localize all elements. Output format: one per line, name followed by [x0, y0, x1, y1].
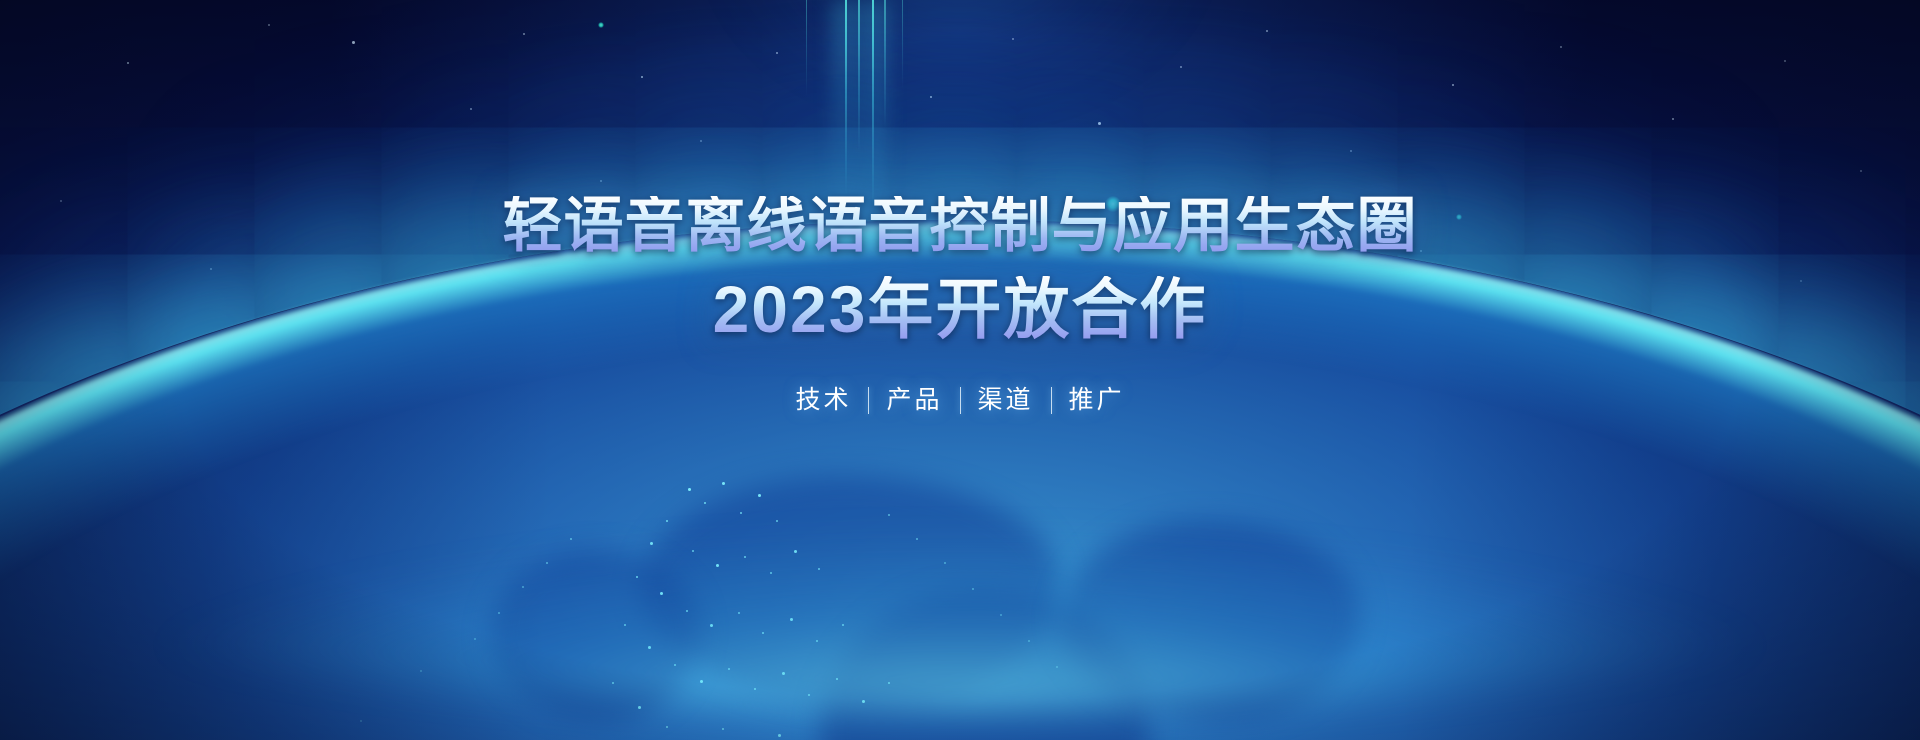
- banner-subtitle: 技术 产品 渠道 推广: [0, 387, 1920, 414]
- subtitle-item-channel: 渠道: [961, 388, 1051, 413]
- subtitle-item-technology: 技术: [778, 388, 868, 413]
- banner-content: 轻语音离线语音控制与应用生态圈 2023年开放合作 技术 产品 渠道 推广: [0, 0, 1920, 740]
- promo-banner: 轻语音离线语音控制与应用生态圈 2023年开放合作 技术 产品 渠道 推广: [0, 0, 1920, 740]
- title-block: 轻语音离线语音控制与应用生态圈 2023年开放合作: [0, 196, 1920, 342]
- banner-title-line1: 轻语音离线语音控制与应用生态圈: [0, 196, 1920, 256]
- banner-title-line2: 2023年开放合作: [0, 276, 1920, 342]
- subtitle-item-promotion: 推广: [1052, 388, 1142, 413]
- subtitle-item-product: 产品: [869, 388, 959, 413]
